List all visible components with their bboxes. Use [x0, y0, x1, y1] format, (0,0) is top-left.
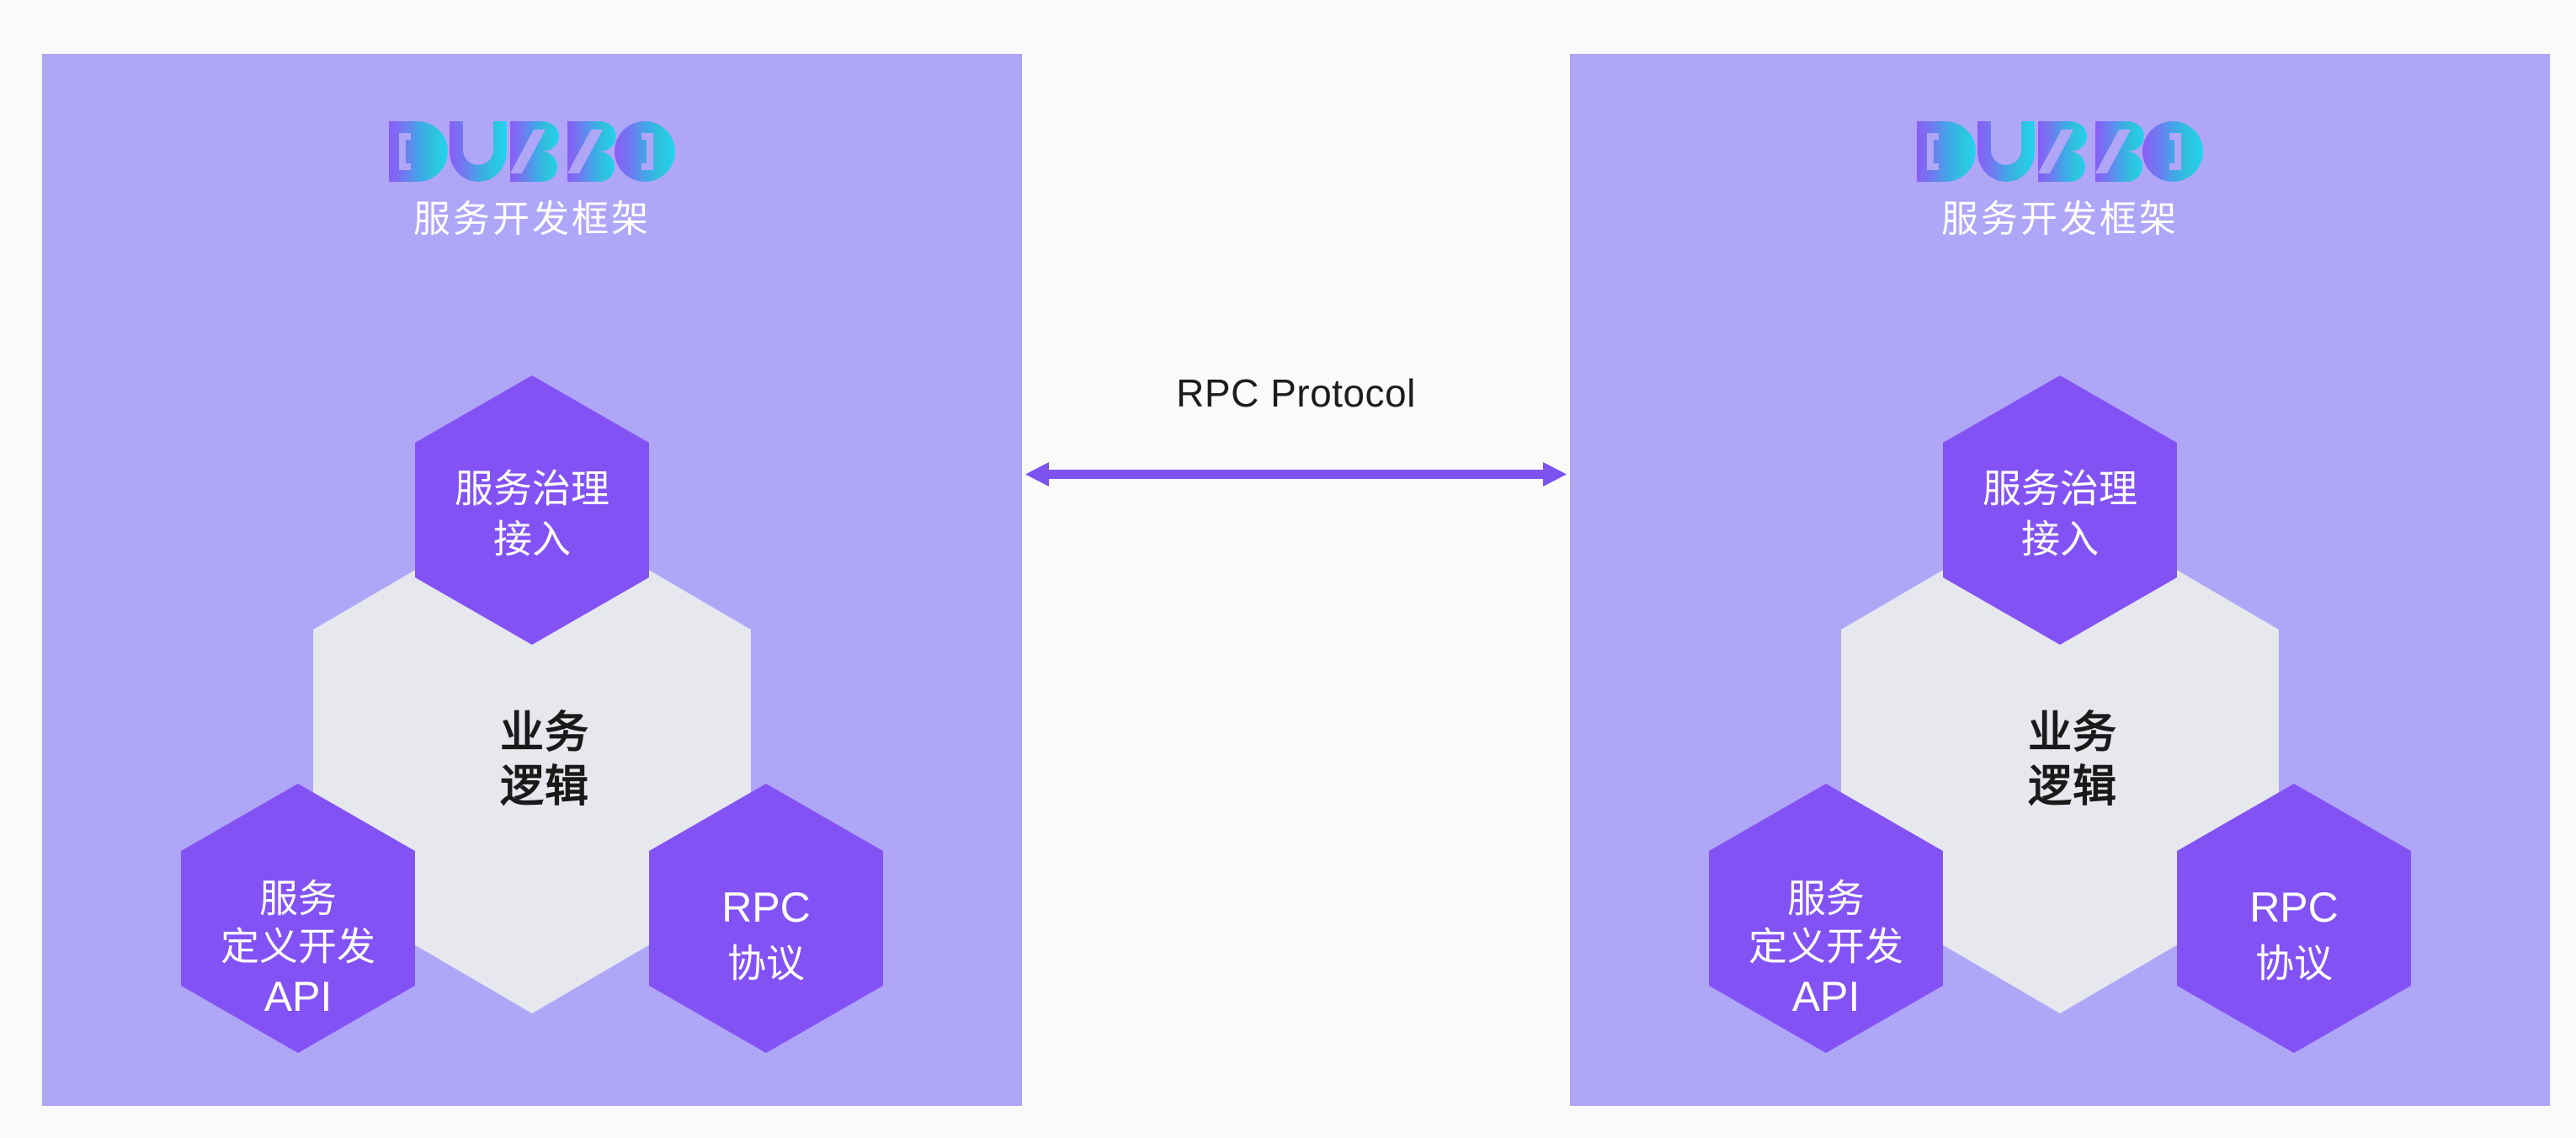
brand-block-right: 服务开发框架 — [1570, 121, 2550, 240]
business-logic-line-1: 业务 — [2028, 708, 2117, 758]
business-logic-line-1: 业务 — [500, 708, 589, 758]
service-definition-line-3: API — [1792, 973, 1860, 1020]
hex-cluster-right: 服务治理 接入 服务 定义开发 API RPC 协议 业务 逻辑 — [1614, 367, 2506, 1066]
brand-subtitle: 服务开发框架 — [1570, 199, 2550, 240]
provider-panel: 服务开发框架 服务治理 接入 服务 定义开发 API RPC 协议 业务 逻辑 — [1570, 54, 2550, 1106]
service-definition-line-1: 服务 — [1787, 876, 1865, 922]
connector-label: RPC Protocol — [1022, 370, 1570, 416]
service-definition-line-1: 服务 — [259, 876, 337, 922]
service-governance-line-1: 服务治理 — [1983, 466, 2137, 512]
hex-cluster-left: 服务治理 接入 服务 定义开发 API RPC 协议 业务 逻辑 — [86, 367, 978, 1066]
service-definition-line-2: 定义开发 — [1748, 924, 1903, 970]
rpc-protocol-line-2: 协议 — [727, 941, 805, 986]
rpc-protocol-line-1: RPC — [721, 884, 811, 931]
brand-block-left: 服务开发框架 — [42, 121, 1022, 240]
dubbo-logo-icon — [1917, 121, 2203, 182]
business-logic-line-2: 逻辑 — [2028, 762, 2117, 812]
service-governance-line-2: 接入 — [2021, 517, 2099, 562]
service-definition-line-3: API — [264, 973, 333, 1020]
brand-subtitle: 服务开发框架 — [42, 199, 1022, 240]
consumer-panel: 服务开发框架 服务治理 接入 服务 定义开发 API RPC 协议 — [42, 54, 1022, 1106]
rpc-protocol-line-1: RPC — [2249, 884, 2339, 931]
business-logic-line-2: 逻辑 — [500, 762, 589, 812]
service-definition-line-2: 定义开发 — [221, 924, 375, 970]
service-governance-line-1: 服务治理 — [455, 466, 609, 512]
service-governance-line-2: 接入 — [493, 517, 571, 562]
dubbo-logo-icon — [389, 121, 675, 182]
rpc-protocol-line-2: 协议 — [2255, 941, 2333, 986]
diagram-canvas: 服务开发框架 服务治理 接入 服务 定义开发 API RPC 协议 — [0, 0, 2576, 1138]
rpc-protocol-connector: RPC Protocol — [1022, 370, 1570, 539]
double-arrow-icon — [1022, 451, 1570, 498]
